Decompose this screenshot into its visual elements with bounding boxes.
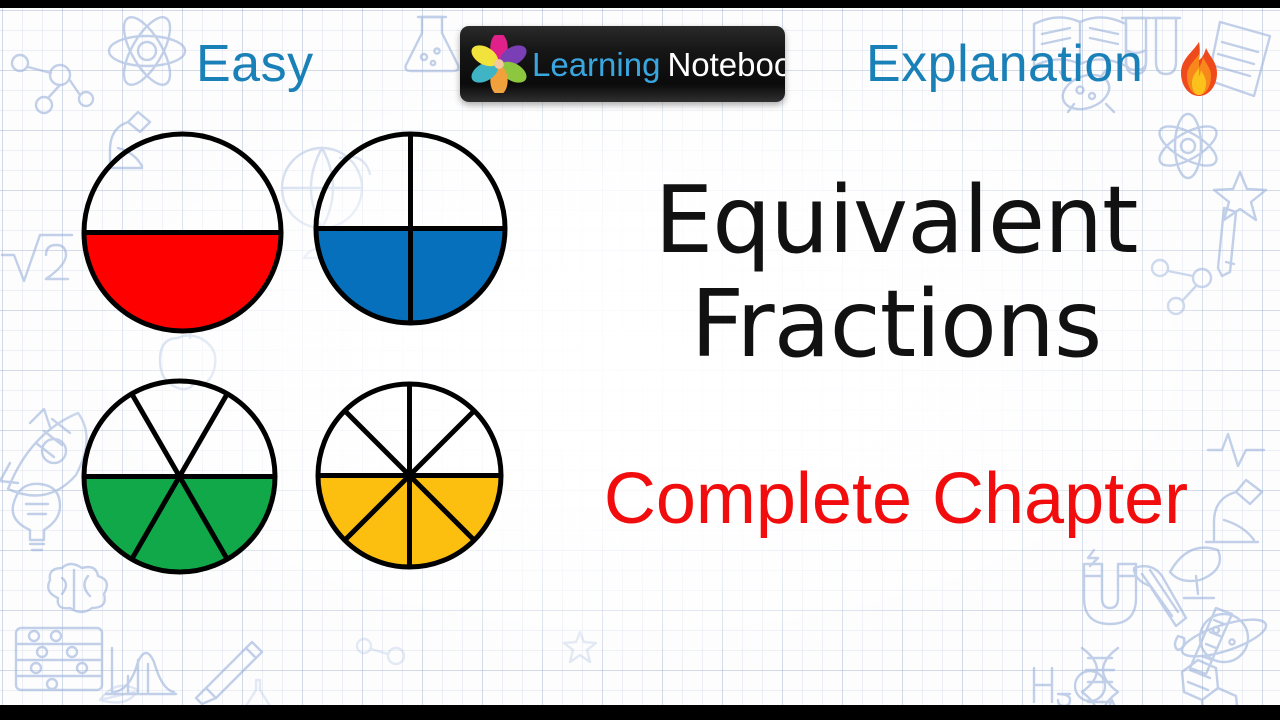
heartbeat-icon — [1208, 434, 1264, 466]
letterbox-bar-bottom — [0, 705, 1280, 720]
logo-text-notebook: Notebook — [667, 48, 785, 81]
saturn-icon — [1178, 612, 1270, 664]
page-title: Equivalent Fractions — [596, 168, 1196, 376]
sqrt-two-icon — [2, 235, 72, 281]
logo-text-learning: Learning — [532, 48, 660, 81]
ruler-icon — [1190, 608, 1232, 674]
abacus-icon — [16, 628, 102, 690]
star-icon — [1214, 172, 1266, 220]
fraction-circle-two-quarters — [312, 130, 509, 327]
fraction-circle-three-sixths — [80, 377, 279, 576]
atom-icon — [109, 11, 185, 92]
h2o-icon — [1034, 668, 1105, 705]
fire-emoji-icon — [1172, 40, 1226, 98]
fraction-circle-four-eighths — [314, 380, 505, 571]
star-icon — [564, 632, 596, 662]
magnet-icon — [1084, 550, 1136, 624]
pinwheel-flower-logo-icon — [470, 35, 528, 93]
header-word-easy: Easy — [196, 38, 314, 90]
rocket-icon — [0, 409, 87, 495]
microscope-icon — [1206, 480, 1262, 542]
satellite-dish-icon — [1170, 548, 1220, 598]
molecule-icon — [12, 55, 93, 113]
header-word-explanation: Explanation — [866, 38, 1143, 90]
video-thumbnail: Easy Explanation — [0, 0, 1280, 720]
title-line-2: Fractions — [596, 272, 1196, 376]
letterbox-bar-top — [0, 0, 1280, 8]
grid-paper-background: Easy Explanation — [0, 8, 1280, 705]
molecule-icon — [357, 639, 404, 664]
subtitle-complete-chapter: Complete Chapter — [586, 463, 1206, 535]
learning-notebook-logo: Learning Notebook — [460, 26, 785, 102]
flask-icon — [246, 680, 270, 705]
title-line-1: Equivalent — [596, 168, 1196, 272]
flask-icon — [406, 17, 459, 71]
fraction-circle-one-half — [80, 130, 285, 335]
